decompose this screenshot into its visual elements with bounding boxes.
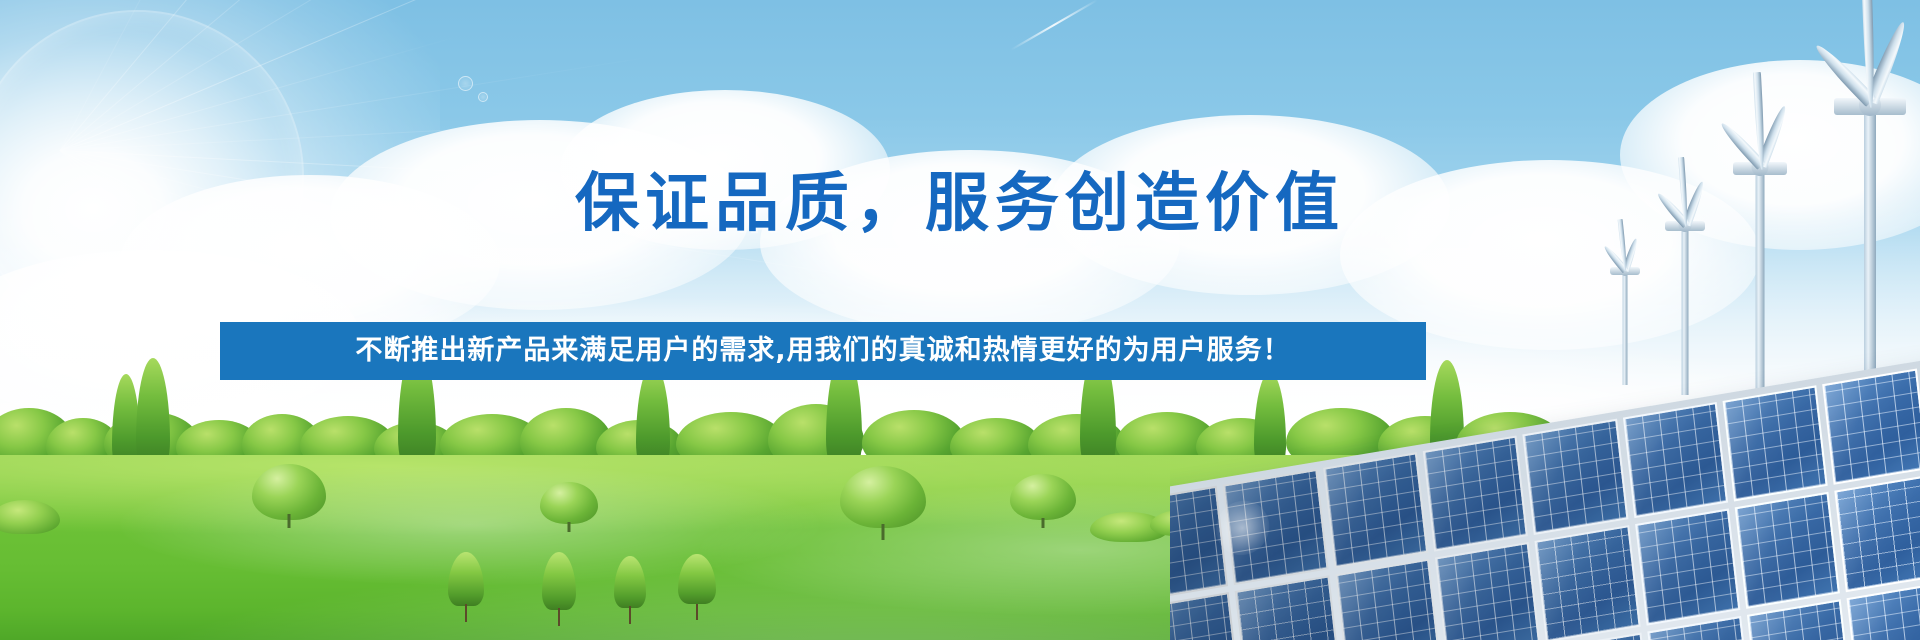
tree-trunk <box>882 524 885 540</box>
solar-panel <box>1535 525 1641 640</box>
sapling <box>614 556 646 624</box>
solar-panel <box>1423 435 1529 552</box>
sapling-canopy <box>448 552 484 606</box>
sapling-trunk <box>629 606 631 624</box>
hero-banner: 保证品质，服务创造价值 不断推出新产品来满足用户的需求,用我们的真诚和热情更好的… <box>0 0 1920 640</box>
solar-panel <box>1170 592 1241 640</box>
solar-panel <box>1323 452 1429 569</box>
solar-panel <box>1735 492 1841 609</box>
tree <box>252 464 326 528</box>
solar-panel-array <box>1170 220 1920 640</box>
sapling-trunk <box>465 604 467 622</box>
sapling-trunk <box>696 604 698 620</box>
solar-panel <box>1623 402 1729 519</box>
tree-canopy <box>840 466 926 528</box>
tree-canopy <box>252 464 326 520</box>
sapling <box>678 554 716 620</box>
solar-array-surface <box>1170 344 1920 640</box>
tree <box>1010 474 1076 528</box>
solar-panel <box>1523 419 1629 536</box>
tree-canopy <box>540 482 598 524</box>
sapling-trunk <box>558 608 560 626</box>
solar-panel <box>1335 559 1441 640</box>
solar-panel <box>1635 509 1741 626</box>
solar-panel <box>1435 542 1541 640</box>
tree-trunk <box>1042 518 1045 528</box>
subtitle-text: 不断推出新产品来满足用户的需求,用我们的真诚和热情更好的为用户服务！ <box>355 336 1290 366</box>
lens-flare-dot <box>478 92 488 102</box>
sapling <box>448 552 484 622</box>
solar-panel <box>1822 369 1920 486</box>
sapling-canopy <box>614 556 646 608</box>
lens-flare-dot <box>458 76 473 91</box>
page-title: 保证品质，服务创造价值 <box>0 168 1920 240</box>
tree <box>136 358 170 470</box>
solar-panel <box>1723 385 1829 502</box>
sapling-canopy <box>542 552 576 610</box>
solar-panel <box>1235 576 1341 640</box>
tree-trunk <box>568 522 571 532</box>
sapling-canopy <box>678 554 716 604</box>
subtitle-bar: 不断推出新产品来满足用户的需求,用我们的真诚和热情更好的为用户服务！ <box>220 322 1426 380</box>
sapling <box>542 552 576 626</box>
solar-panel <box>1835 475 1920 592</box>
tree <box>540 482 598 532</box>
tree-trunk <box>288 514 291 528</box>
tree-canopy <box>1010 474 1076 520</box>
tree <box>840 466 926 540</box>
